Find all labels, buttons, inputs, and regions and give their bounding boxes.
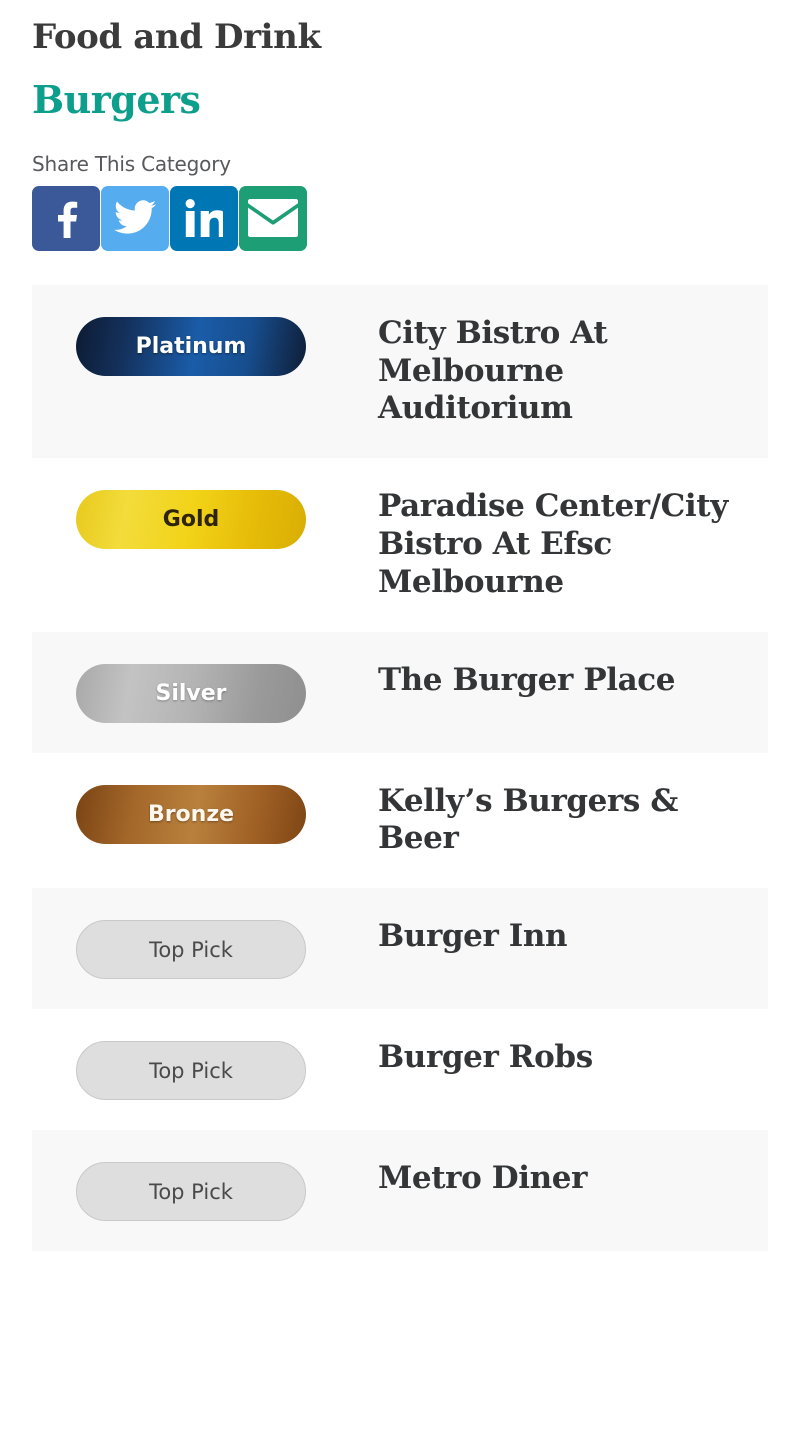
award-badge-top-pick[interactable]: Top Pick [76,920,306,979]
business-name-cell: Kelly’s Burgers & Beer [350,783,768,859]
table-row[interactable]: Top Pick Burger Robs [32,1009,768,1130]
award-badge-cell: Top Pick [76,1160,350,1221]
award-badge-top-pick[interactable]: Top Pick [76,1162,306,1221]
award-badge-cell: Bronze [76,783,350,844]
business-name-link[interactable]: Burger Inn [378,918,748,956]
award-badge-cell: Top Pick [76,918,350,979]
page-title-subcategory: Burgers [32,78,768,122]
table-row[interactable]: Platinum City Bistro At Melbourne Audito… [32,285,768,458]
award-badge-cell: Gold [76,488,350,549]
table-row[interactable]: Gold Paradise Center/City Bistro At Efsc… [32,458,768,631]
linkedin-icon [185,199,223,237]
email-icon [248,199,298,237]
category-results-page: Food and Drink Burgers Share This Catego… [0,0,800,1436]
business-name-cell: The Burger Place [350,662,768,700]
table-row[interactable]: Top Pick Burger Inn [32,888,768,1009]
share-section-label: Share This Category [32,152,768,176]
business-name-link[interactable]: Kelly’s Burgers & Beer [378,783,748,859]
share-email-button[interactable] [239,186,307,251]
business-name-cell: Metro Diner [350,1160,768,1198]
award-badge-silver[interactable]: Silver [76,664,306,723]
facebook-icon [49,198,83,238]
table-row[interactable]: Bronze Kelly’s Burgers & Beer [32,753,768,889]
share-facebook-button[interactable] [32,186,100,251]
share-linkedin-button[interactable] [170,186,238,251]
share-twitter-button[interactable] [101,186,169,251]
award-badge-cell: Platinum [76,315,350,376]
twitter-icon [114,200,156,236]
business-name-link[interactable]: The Burger Place [378,662,748,700]
table-row[interactable]: Top Pick Metro Diner [32,1130,768,1251]
share-buttons-row [32,186,768,251]
page-header: Food and Drink Burgers Share This Catego… [0,0,800,251]
award-badge-cell: Top Pick [76,1039,350,1100]
business-name-link[interactable]: Paradise Center/City Bistro At Efsc Melb… [378,488,748,601]
award-badge-top-pick[interactable]: Top Pick [76,1041,306,1100]
page-title-category: Food and Drink [32,18,768,57]
award-badge-gold[interactable]: Gold [76,490,306,549]
business-name-cell: Burger Inn [350,918,768,956]
award-listing: Platinum City Bistro At Melbourne Audito… [0,285,800,1252]
business-name-cell: Paradise Center/City Bistro At Efsc Melb… [350,488,768,601]
business-name-link[interactable]: City Bistro At Melbourne Auditorium [378,315,748,428]
award-badge-cell: Silver [76,662,350,723]
business-name-link[interactable]: Burger Robs [378,1039,748,1077]
business-name-link[interactable]: Metro Diner [378,1160,748,1198]
table-row[interactable]: Silver The Burger Place [32,632,768,753]
business-name-cell: City Bistro At Melbourne Auditorium [350,315,768,428]
award-badge-platinum[interactable]: Platinum [76,317,306,376]
award-badge-bronze[interactable]: Bronze [76,785,306,844]
business-name-cell: Burger Robs [350,1039,768,1077]
